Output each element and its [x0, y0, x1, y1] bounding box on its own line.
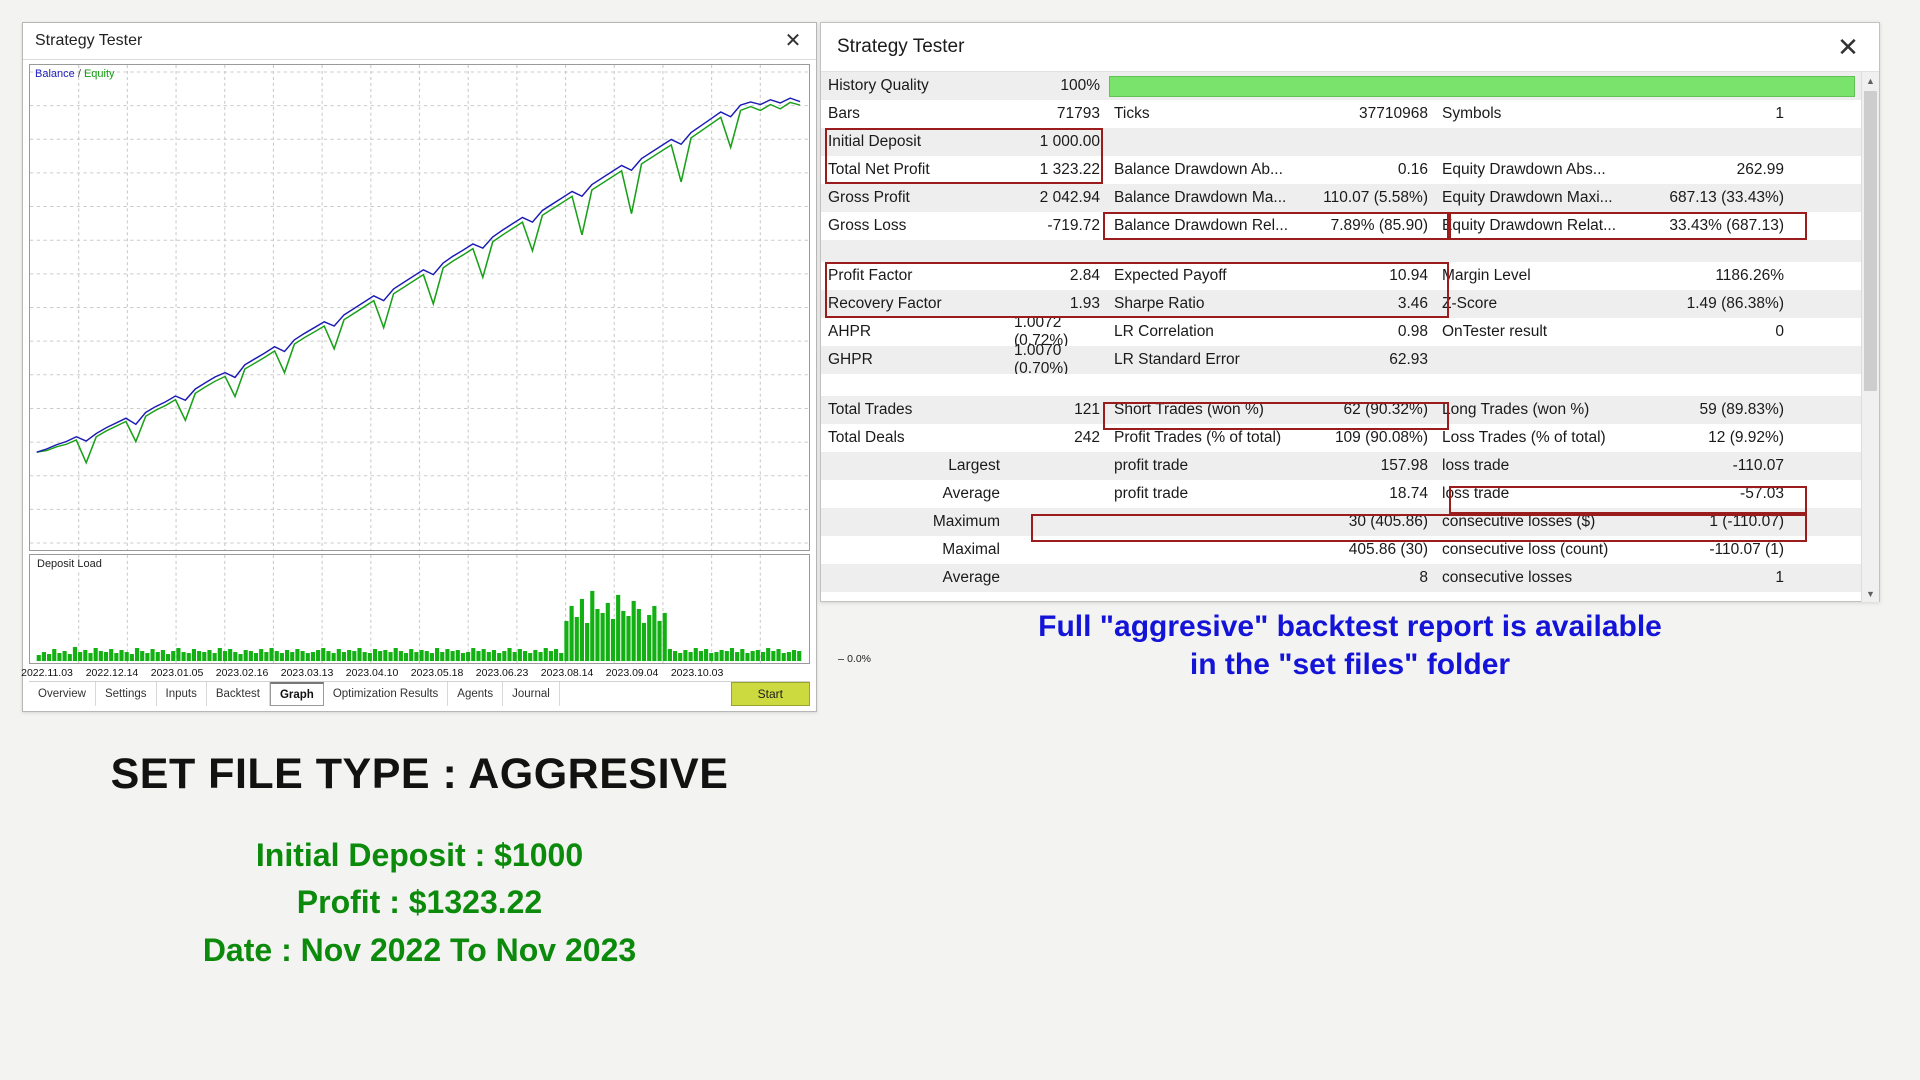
cell-value-3: 33.43% (687.13) — [1631, 212, 1791, 240]
cell-label-1: Gross Profit — [821, 184, 1007, 212]
cell-value-1: 242 — [1007, 424, 1107, 452]
legend-separator: / — [78, 68, 81, 80]
summary-line-profit: Profit : $1323.22 — [22, 879, 817, 926]
start-button[interactable]: Start — [731, 682, 810, 706]
cell-value-1: -719.72 — [1007, 212, 1107, 240]
cell-value-3: 1.49 (86.38%) — [1631, 290, 1791, 318]
cell-label-2: profit trade — [1107, 480, 1305, 508]
tab-settings[interactable]: Settings — [96, 682, 157, 706]
report-scrollbar[interactable]: ▲ ▼ — [1861, 72, 1879, 602]
scrollbar-thumb[interactable] — [1864, 91, 1877, 391]
cell-value-3 — [1631, 346, 1791, 374]
cell-label-3: consecutive losses — [1435, 564, 1631, 592]
cell-label-2 — [1107, 128, 1305, 156]
set-file-type-heading: SET FILE TYPE : AGGRESIVE — [22, 750, 817, 799]
cell-value-2: 10.94 — [1305, 262, 1435, 290]
cell-label-1: Initial Deposit — [821, 128, 1007, 156]
cell-label-3: consecutive loss (count) — [1435, 536, 1631, 564]
table-row[interactable]: Bars71793Ticks37710968Symbols1 — [821, 100, 1861, 128]
close-icon[interactable]: ✕ — [1831, 30, 1865, 64]
chevron-down-icon[interactable]: ▼ — [1862, 585, 1879, 602]
cell-value-1 — [1007, 564, 1107, 592]
x-axis-tick: 2023.04.10 — [346, 667, 399, 679]
chart-legend: Balance / Equity — [35, 68, 115, 80]
cell-value-2 — [1305, 128, 1435, 156]
x-axis-tick: 2022.12.14 — [86, 667, 139, 679]
cell-value-3: 0 — [1631, 318, 1791, 346]
deposit-load-chart: Deposit Load 10.0%0.0% — [29, 554, 810, 664]
cell-value-2: 109 (90.08%) — [1305, 424, 1435, 452]
cell-label-1: History Quality — [821, 72, 1007, 100]
cell-value-2: 0.16 — [1305, 156, 1435, 184]
cell-label-1: Maximal — [821, 536, 1007, 564]
graph-window-body: Balance / Equity 24352308218120541927180… — [23, 60, 816, 712]
cell-label-2: LR Correlation — [1107, 318, 1305, 346]
cell-value-2: 3.46 — [1305, 290, 1435, 318]
cell-value-3: -110.07 — [1631, 452, 1791, 480]
cell-value-1: 71793 — [1007, 100, 1107, 128]
cell-label-3: Equity Drawdown Relat... — [1435, 212, 1631, 240]
table-row[interactable]: Total Deals242Profit Trades (% of total)… — [821, 424, 1861, 452]
cell-label-3: Z-Score — [1435, 290, 1631, 318]
table-row[interactable]: Initial Deposit1 000.00 — [821, 128, 1861, 156]
strategy-tester-graph-window: Strategy Tester ✕ Balance / Equity 24352… — [22, 22, 817, 712]
cell-value-2: 30 (405.86) — [1305, 508, 1435, 536]
graph-window-titlebar: Strategy Tester ✕ — [23, 23, 816, 60]
cell-value-2: 62.93 — [1305, 346, 1435, 374]
x-axis-tick: 2023.10.03 — [671, 667, 724, 679]
x-axis-tick: 2023.06.23 — [476, 667, 529, 679]
cell-label-1: Profit Factor — [821, 262, 1007, 290]
cell-label-3: loss trade — [1435, 452, 1631, 480]
cell-label-1: GHPR — [821, 346, 1007, 374]
tab-graph[interactable]: Graph — [270, 682, 324, 706]
cell-value-3: 1 (-110.07) — [1631, 508, 1791, 536]
x-axis-tick: 2023.09.04 — [606, 667, 659, 679]
summary-line-initial-deposit: Initial Deposit : $1000 — [22, 832, 817, 879]
cell-label-1: Total Trades — [821, 396, 1007, 424]
cell-value-2: 0.98 — [1305, 318, 1435, 346]
cell-value-3: 687.13 (33.43%) — [1631, 184, 1791, 212]
cell-label-1: Recovery Factor — [821, 290, 1007, 318]
report-statistics-table: History Quality100%Bars71793Ticks3771096… — [821, 72, 1861, 602]
summary-line-date: Date : Nov 2022 To Nov 2023 — [22, 927, 817, 974]
cell-label-3: Equity Drawdown Abs... — [1435, 156, 1631, 184]
cell-value-2: 8 — [1305, 564, 1435, 592]
x-axis-tick: 2022.11.03 — [21, 667, 73, 679]
series-balance — [37, 98, 800, 452]
cell-label-2: LR Standard Error — [1107, 346, 1305, 374]
cell-label-1: Gross Loss — [821, 212, 1007, 240]
strategy-tester-tabbar: OverviewSettingsInputsBacktestGraphOptim… — [29, 681, 810, 706]
cell-label-1: Maximum — [821, 508, 1007, 536]
table-row[interactable]: Gross Loss-719.72Balance Drawdown Rel...… — [821, 212, 1861, 240]
cell-label-1: Total Net Profit — [821, 156, 1007, 184]
cell-value-3 — [1631, 128, 1791, 156]
strategy-tester-report-window: Strategy Tester ✕ History Quality100%Bar… — [820, 22, 1880, 602]
table-row[interactable]: Profit Factor2.84Expected Payoff10.94Mar… — [821, 262, 1861, 290]
table-row[interactable]: Largestprofit trade157.98loss trade-110.… — [821, 452, 1861, 480]
tab-journal[interactable]: Journal — [503, 682, 560, 706]
table-row[interactable]: Maximal405.86 (30)consecutive loss (coun… — [821, 536, 1861, 564]
cell-value-3: 262.99 — [1631, 156, 1791, 184]
tab-backtest[interactable]: Backtest — [207, 682, 270, 706]
cell-label-3 — [1435, 128, 1631, 156]
cell-label-2: Balance Drawdown Ab... — [1107, 156, 1305, 184]
x-axis-tick: 2023.08.14 — [541, 667, 594, 679]
summary-block: Initial Deposit : $1000 Profit : $1323.2… — [22, 832, 817, 974]
cell-value-3: -110.07 (1) — [1631, 536, 1791, 564]
equity-balance-chart: Balance / Equity 24352308218120541927180… — [29, 64, 810, 551]
cell-value-1 — [1007, 536, 1107, 564]
cell-label-3: OnTester result — [1435, 318, 1631, 346]
cell-value-2: 7.89% (85.90) — [1305, 212, 1435, 240]
cell-label-3: consecutive losses ($) — [1435, 508, 1631, 536]
report-note-line-2: in the "set files" folder — [820, 646, 1880, 684]
cell-value-2: 37710968 — [1305, 100, 1435, 128]
table-row[interactable]: Average8consecutive losses1 — [821, 564, 1861, 592]
table-row-spacer — [821, 240, 1861, 262]
cell-label-2: Sharpe Ratio — [1107, 290, 1305, 318]
cell-label-1: Largest — [821, 452, 1007, 480]
cell-label-2: Expected Payoff — [1107, 262, 1305, 290]
cell-value-1 — [1007, 452, 1107, 480]
cell-value-3: -57.03 — [1631, 480, 1791, 508]
report-window-titlebar: Strategy Tester ✕ — [821, 23, 1879, 72]
tab-overview[interactable]: Overview — [29, 682, 96, 706]
cell-label-2: Balance Drawdown Ma... — [1107, 184, 1305, 212]
cell-value-1: 1.0070 (0.70%) — [1007, 346, 1107, 374]
table-row[interactable]: Recovery Factor1.93Sharpe Ratio3.46Z-Sco… — [821, 290, 1861, 318]
cell-value-1: 1 323.22 — [1007, 156, 1107, 184]
report-note-caption: Full "aggresive" backtest report is avai… — [820, 608, 1880, 684]
tab-optimization-results[interactable]: Optimization Results — [324, 682, 448, 706]
cell-label-2 — [1107, 536, 1305, 564]
x-axis-tick: 2023.05.18 — [411, 667, 464, 679]
cell-value-1 — [1007, 508, 1107, 536]
cell-label-1: Average — [821, 480, 1007, 508]
tab-agents[interactable]: Agents — [448, 682, 503, 706]
x-axis-tick: 2023.03.13 — [281, 667, 334, 679]
cell-label-3: Loss Trades (% of total) — [1435, 424, 1631, 452]
equity-chart-svg — [30, 65, 809, 550]
cell-value-1: 2.84 — [1007, 262, 1107, 290]
cell-value-2: 157.98 — [1305, 452, 1435, 480]
cell-value-1 — [1007, 480, 1107, 508]
cell-label-2 — [1107, 508, 1305, 536]
cell-value-3: 12 (9.92%) — [1631, 424, 1791, 452]
cell-label-2: Profit Trades (% of total) — [1107, 424, 1305, 452]
cell-label-3: Long Trades (won %) — [1435, 396, 1631, 424]
cell-value-3: 1 — [1631, 100, 1791, 128]
table-row[interactable]: Gross Profit2 042.94Balance Drawdown Ma.… — [821, 184, 1861, 212]
cell-label-1: Average — [821, 564, 1007, 592]
table-row[interactable]: AHPR1.0072 (0.72%)LR Correlation0.98OnTe… — [821, 318, 1861, 346]
cell-value-1: 1 000.00 — [1007, 128, 1107, 156]
cell-label-2: profit trade — [1107, 452, 1305, 480]
table-row[interactable]: Total Net Profit1 323.22Balance Drawdown… — [821, 156, 1861, 184]
cell-label-1: Total Deals — [821, 424, 1007, 452]
cell-label-1: Bars — [821, 100, 1007, 128]
legend-balance: Balance — [35, 68, 75, 80]
cell-value-1: 2 042.94 — [1007, 184, 1107, 212]
cell-value-1: 121 — [1007, 396, 1107, 424]
table-row-spacer — [821, 374, 1861, 396]
cell-value-2: 405.86 (30) — [1305, 536, 1435, 564]
x-axis-tick: 2023.02.16 — [216, 667, 269, 679]
x-axis-tick: 2023.01.05 — [151, 667, 204, 679]
tab-inputs[interactable]: Inputs — [157, 682, 207, 706]
table-row[interactable]: Maximum30 (405.86)consecutive losses ($)… — [821, 508, 1861, 536]
cell-label-3 — [1435, 346, 1631, 374]
cell-label-2: Short Trades (won %) — [1107, 396, 1305, 424]
table-row[interactable]: Averageprofit trade18.74loss trade-57.03 — [821, 480, 1861, 508]
table-row[interactable]: History Quality100% — [821, 72, 1861, 100]
cell-value-3: 1186.26% — [1631, 262, 1791, 290]
cell-value-2: 62 (90.32%) — [1305, 396, 1435, 424]
report-window-body: History Quality100%Bars71793Ticks3771096… — [821, 72, 1879, 602]
cell-value-3: 1 — [1631, 564, 1791, 592]
cell-label-2 — [1107, 564, 1305, 592]
graph-window-title: Strategy Tester — [35, 32, 142, 50]
report-note-line-1: Full "aggresive" backtest report is avai… — [820, 608, 1880, 646]
cell-label-3: Symbols — [1435, 100, 1631, 128]
table-row[interactable]: Total Trades121Short Trades (won %)62 (9… — [821, 396, 1861, 424]
close-icon[interactable]: ✕ — [780, 28, 806, 54]
cell-value-3: 59 (89.83%) — [1631, 396, 1791, 424]
cell-label-2: Balance Drawdown Rel... — [1107, 212, 1305, 240]
cell-label-1: AHPR — [821, 318, 1007, 346]
legend-equity: Equity — [84, 68, 115, 80]
report-window-title: Strategy Tester — [837, 36, 964, 58]
cell-label-3: Margin Level — [1435, 262, 1631, 290]
chevron-up-icon[interactable]: ▲ — [1862, 72, 1879, 89]
deposit-load-svg — [30, 555, 809, 663]
cell-value-1: 100% — [1007, 72, 1107, 100]
cell-label-3: Equity Drawdown Maxi... — [1435, 184, 1631, 212]
deposit-load-label: Deposit Load — [35, 558, 104, 570]
cell-value-2: 18.74 — [1305, 480, 1435, 508]
history-quality-bar — [1109, 76, 1855, 97]
cell-value-2: 110.07 (5.58%) — [1305, 184, 1435, 212]
cell-label-2: Ticks — [1107, 100, 1305, 128]
cell-label-3: loss trade — [1435, 480, 1631, 508]
table-row[interactable]: GHPR1.0070 (0.70%)LR Standard Error62.93 — [821, 346, 1861, 374]
